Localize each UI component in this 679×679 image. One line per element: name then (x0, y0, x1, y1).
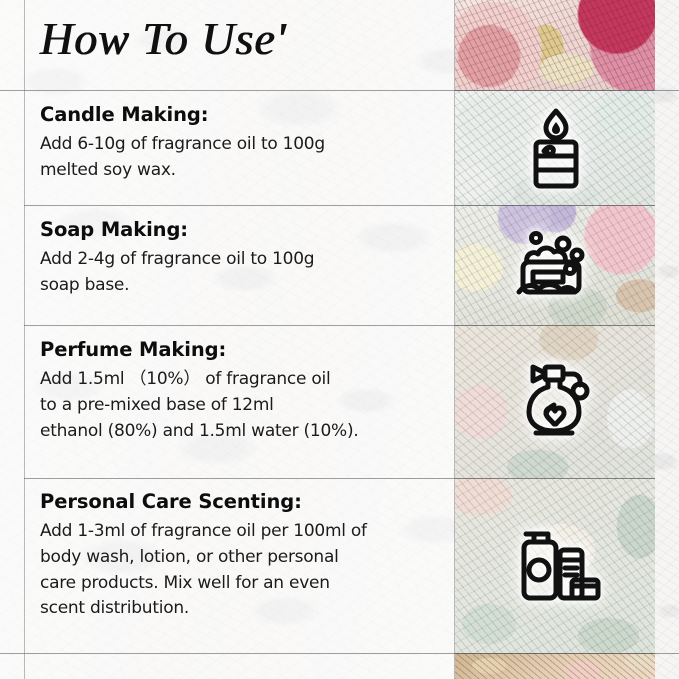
photo-band-candle (455, 90, 656, 205)
section-divider-soap (24, 205, 455, 206)
section-heading: Soap Making: (40, 218, 440, 241)
section-divider-personal-care (24, 478, 455, 479)
photo-column (454, 0, 657, 679)
photo-band-soap (455, 205, 656, 325)
section-heading: Candle Making: (40, 103, 440, 126)
section-soap-making: Soap Making: Add 2-4g of fragrance oil t… (40, 218, 440, 299)
photo-band-roses (455, 0, 656, 90)
section-body: Add 2-4g of fragrance oil to 100g soap b… (40, 247, 440, 299)
body-line: Add 6-10g of fragrance oil to 100g (40, 132, 440, 158)
section-body: Add 6-10g of fragrance oil to 100g melte… (40, 132, 440, 184)
photo-band-footer (455, 653, 656, 679)
body-line: soap base. (40, 273, 440, 299)
how-to-use-infographic: How To Use' Candle Making: Add 6-10g of … (0, 0, 679, 679)
photo-band-perfume (455, 325, 656, 478)
body-line: Add 1-3ml of fragrance oil per 100ml of (40, 519, 440, 545)
section-divider-bottom (0, 653, 679, 654)
section-body: Add 1.5ml （10%） of fragrance oil to a pr… (40, 367, 440, 444)
section-heading: Perfume Making: (40, 338, 440, 361)
photo-band-divider (455, 205, 656, 206)
section-candle-making: Candle Making: Add 6-10g of fragrance oi… (40, 103, 440, 184)
body-line: Add 1.5ml （10%） of fragrance oil (40, 367, 440, 393)
page-title: How To Use' (40, 12, 287, 65)
body-line: Add 2-4g of fragrance oil to 100g (40, 247, 440, 273)
body-line: body wash, lotion, or other personal (40, 545, 440, 571)
section-body: Add 1-3ml of fragrance oil per 100ml of … (40, 519, 440, 622)
body-line: melted soy wax. (40, 158, 440, 184)
photo-band-divider (455, 478, 656, 479)
body-line: ethanol (80%) and 1.5ml water (10%). (40, 419, 440, 445)
left-vertical-rule (24, 0, 25, 679)
section-divider-top (0, 90, 679, 91)
section-perfume-making: Perfume Making: Add 1.5ml （10%） of fragr… (40, 338, 440, 444)
photo-band-personal-care (455, 478, 656, 653)
section-heading: Personal Care Scenting: (40, 490, 440, 513)
section-divider-perfume (24, 325, 455, 326)
photo-band-divider (455, 325, 656, 326)
body-line: scent distribution. (40, 596, 440, 622)
section-personal-care-scenting: Personal Care Scenting: Add 1-3ml of fra… (40, 490, 440, 622)
body-line: care products. Mix well for an even (40, 571, 440, 597)
photo-column-outer-margin (655, 0, 679, 679)
body-line: to a pre-mixed base of 12ml (40, 393, 440, 419)
